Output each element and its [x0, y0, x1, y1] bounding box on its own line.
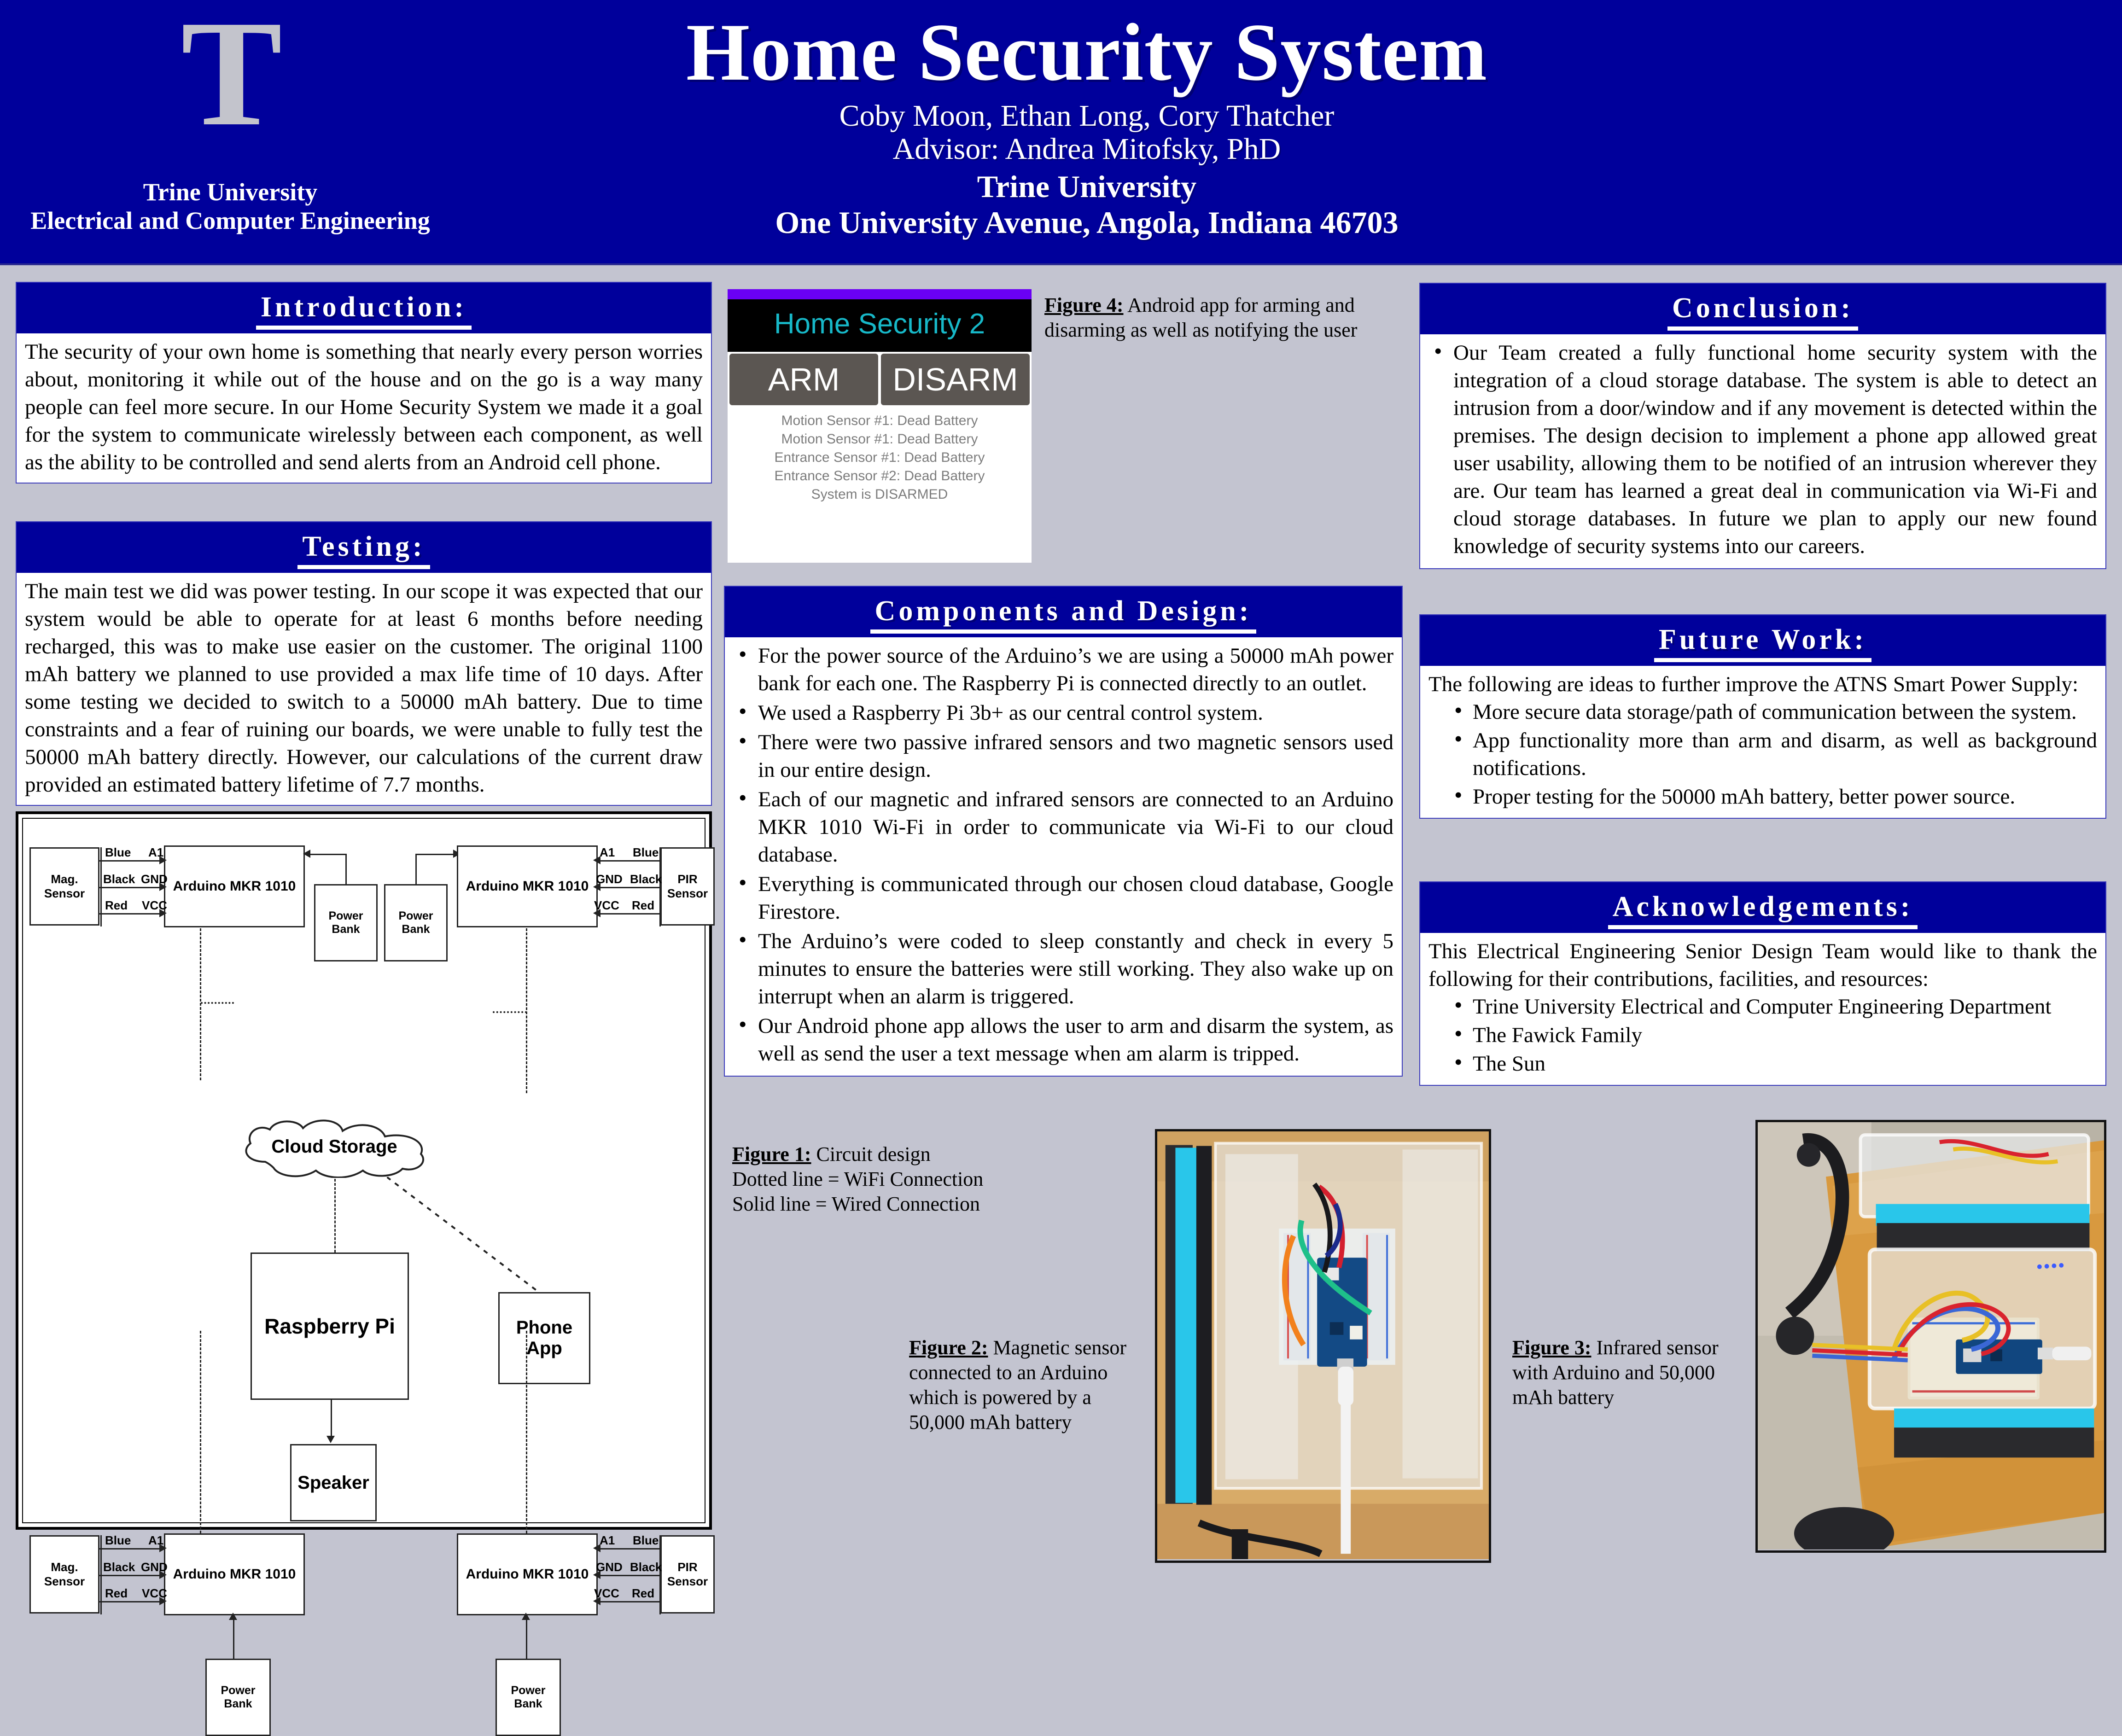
introduction-paragraph: The security of your own home is somethi…	[25, 338, 703, 476]
affiliation-university: Trine University	[497, 169, 1676, 204]
conclusion-heading-text: Conclusion:	[1667, 292, 1858, 331]
components-bullet-list: For the power source of the Arduino’s we…	[733, 642, 1393, 1067]
conclusion-heading: Conclusion:	[1420, 284, 2105, 334]
wire-label-blue-br: Blue	[633, 1533, 659, 1548]
list-item: More secure data storage/path of communi…	[1450, 698, 2097, 726]
cloud-label: Cloud Storage	[233, 1136, 436, 1157]
status-line: Motion Sensor #1: Dead Battery	[728, 412, 1032, 430]
node-label: PIR Sensor	[662, 872, 713, 901]
wire-label-blue-bl: Blue	[105, 1533, 131, 1548]
node-label: Arduino MKR 1010	[466, 1567, 589, 1582]
figure-1-text: Circuit design	[811, 1143, 931, 1165]
list-item: The Arduino’s were coded to sleep consta…	[733, 927, 1393, 1010]
components-heading: Components and Design:	[725, 587, 1402, 637]
logo-department-name: Electrical and Computer Engineering	[28, 206, 433, 235]
author-list: Coby Moon, Ethan Long, Cory Thatcher	[497, 99, 1676, 133]
section-testing: Testing: The main test we did was power …	[16, 521, 712, 806]
node-label: PIR Sensor	[662, 1560, 713, 1589]
figure-1-label: Figure 1:	[732, 1143, 811, 1165]
advisor-line: Advisor: Andrea Mitofsky, PhD	[497, 133, 1676, 166]
wire-label-black-tl: Black	[103, 872, 135, 886]
diagram-node-arduino-bottom-left: Arduino MKR 1010	[164, 1533, 305, 1615]
list-item: Everything is communicated through our c…	[733, 870, 1393, 926]
node-label: Mag. Sensor	[31, 872, 98, 901]
figure-3-caption: Figure 3: Infrared sensor with Arduino a…	[1512, 1335, 1743, 1410]
cloud-to-phone-link	[387, 1177, 539, 1292]
diagram-node-phone-app: Phone App	[498, 1292, 590, 1384]
pin-label-gnd-bl: GND	[141, 1560, 168, 1574]
testing-heading-text: Testing:	[297, 531, 430, 569]
conclusion-body: Our Team created a fully functional home…	[1420, 334, 2105, 568]
page-title: Home Security System	[497, 8, 1676, 96]
wire-label-red-br: Red	[632, 1586, 654, 1601]
diagram-node-arduino-bottom-right: Arduino MKR 1010	[457, 1533, 598, 1615]
trine-t-logo-icon: T	[28, 5, 433, 161]
conclusion-bullet-list: Our Team created a fully functional home…	[1428, 339, 2097, 560]
pin-label-vcc-tl: VCC	[142, 898, 167, 913]
components-heading-text: Components and Design:	[870, 595, 1257, 634]
pin-label-a1-bl: A1	[148, 1533, 163, 1548]
section-acknowledgements: Acknowledgements: This Electrical Engine…	[1419, 881, 2106, 1086]
node-label: Raspberry Pi	[264, 1314, 395, 1339]
node-label: Arduino MKR 1010	[173, 1567, 296, 1582]
pin-label-a1-tr: A1	[600, 845, 615, 860]
affiliation-address: One University Avenue, Angola, Indiana 4…	[497, 204, 1676, 240]
list-item: Our Team created a fully functional home…	[1428, 339, 2097, 560]
list-item: The Sun	[1450, 1050, 2097, 1078]
node-label: Arduino MKR 1010	[173, 879, 296, 894]
diagram-node-power-bank-4: Power Bank	[496, 1659, 561, 1736]
list-item: The Fawick Family	[1450, 1021, 2097, 1049]
poster-title-block: Home Security System Coby Moon, Ethan Lo…	[497, 8, 1676, 240]
pin-label-gnd-tl: GND	[141, 872, 168, 886]
section-future-work: Future Work: The following are ideas to …	[1419, 614, 2106, 819]
diagram-node-cloud-storage: Cloud Storage	[233, 1118, 436, 1178]
testing-heading: Testing:	[17, 522, 711, 573]
list-item: Each of our magnetic and infrared sensor…	[733, 786, 1393, 868]
app-status-bar	[728, 289, 1032, 299]
node-label: Speaker	[297, 1473, 369, 1493]
pin-label-vcc-bl: VCC	[142, 1586, 167, 1601]
introduction-heading-text: Introduction:	[256, 291, 472, 330]
wire-label-black-tr: Black	[630, 872, 662, 886]
diagram-node-speaker: Speaker	[290, 1444, 377, 1521]
diagram-node-power-bank-1: Power Bank	[314, 884, 378, 961]
acknowledgements-intro: This Electrical Engineering Senior Desig…	[1428, 938, 2097, 993]
list-item: Our Android phone app allows the user to…	[733, 1012, 1393, 1067]
list-item: Trine University Electrical and Computer…	[1450, 993, 2097, 1020]
figure-1-circuit-diagram: Mag. Sensor Arduino MKR 1010 Blue A1 Bla…	[16, 811, 712, 1530]
figure-1-legend-solid: Solid line = Wired Connection	[732, 1192, 1137, 1217]
list-item: We used a Raspberry Pi 3b+ as our centra…	[733, 699, 1393, 727]
app-button-row: ARM DISARM	[728, 352, 1032, 405]
list-item: There were two passive infrared sensors …	[733, 728, 1393, 784]
figure-4-android-app-screenshot: Home Security 2 ARM DISARM Motion Sensor…	[728, 289, 1032, 563]
pin-label-gnd-br: GND	[596, 1560, 623, 1574]
university-logo-block: T Trine University Electrical and Comput…	[28, 5, 433, 235]
app-title-bar: Home Security 2	[728, 299, 1032, 352]
diagram-node-power-bank-3: Power Bank	[205, 1659, 271, 1736]
diagram-node-arduino-top-left: Arduino MKR 1010	[164, 845, 305, 927]
figure-2-caption: Figure 2: Magnetic sensor connected to a…	[909, 1335, 1148, 1435]
status-line: Entrance Sensor #2: Dead Battery	[728, 467, 1032, 485]
introduction-body: The security of your own home is somethi…	[17, 333, 711, 483]
diagram-node-arduino-top-right: Arduino MKR 1010	[457, 845, 598, 927]
node-label: Arduino MKR 1010	[466, 879, 589, 894]
wire-label-blue-tr: Blue	[633, 845, 659, 860]
components-body: For the power source of the Arduino’s we…	[725, 637, 1402, 1076]
status-line: System is DISARMED	[728, 485, 1032, 504]
poster-header: T Trine University Electrical and Comput…	[0, 0, 2122, 265]
list-item: For the power source of the Arduino’s we…	[733, 642, 1393, 697]
wire-label-black-bl: Black	[103, 1560, 135, 1574]
status-line: Entrance Sensor #1: Dead Battery	[728, 449, 1032, 467]
disarm-button[interactable]: DISARM	[881, 354, 1030, 405]
pin-label-vcc-br: VCC	[594, 1586, 619, 1601]
diagram-node-pir-sensor-bottom-right: PIR Sensor	[660, 1535, 715, 1614]
wire-label-red-tr: Red	[632, 898, 654, 913]
figure-3-label: Figure 3:	[1512, 1336, 1591, 1359]
future-work-intro: The following are ideas to further impro…	[1428, 670, 2097, 698]
figure-3-photo-image	[1758, 1122, 2104, 1550]
node-label: Phone App	[500, 1317, 589, 1359]
figure-4-caption: Figure 4: Android app for arming and dis…	[1044, 293, 1385, 343]
acknowledgements-body: This Electrical Engineering Senior Desig…	[1420, 933, 2105, 1085]
figure-2-photo-image	[1157, 1131, 1489, 1559]
section-components-and-design: Components and Design: For the power sou…	[724, 586, 1403, 1077]
figure-2-photo	[1155, 1129, 1491, 1563]
testing-body: The main test we did was power testing. …	[17, 573, 711, 805]
figure-3-photo	[1755, 1120, 2106, 1553]
section-introduction: Introduction: The security of your own h…	[16, 282, 712, 484]
diagram-node-power-bank-2: Power Bank	[384, 884, 448, 961]
wire-label-blue-tl: Blue	[105, 845, 131, 860]
future-work-heading-text: Future Work:	[1654, 624, 1871, 662]
figure-1-legend-dotted: Dotted line = WiFi Connection	[732, 1167, 1137, 1192]
wire-label-red-tl: Red	[105, 898, 128, 913]
diagram-node-pir-sensor-top-right: PIR Sensor	[660, 847, 715, 926]
figure-1-caption: Figure 1: Circuit design Dotted line = W…	[732, 1142, 1137, 1217]
node-label: Power Bank	[207, 1684, 269, 1711]
figure-2-label: Figure 2:	[909, 1336, 988, 1359]
future-work-bullet-list: More secure data storage/path of communi…	[1450, 698, 2097, 810]
figure-4-label: Figure 4:	[1044, 294, 1124, 316]
acknowledgements-heading-text: Acknowledgements:	[1608, 891, 1918, 929]
wire-label-red-bl: Red	[105, 1586, 128, 1601]
wire-label-black-br: Black	[630, 1560, 662, 1574]
node-label: Mag. Sensor	[31, 1560, 98, 1589]
testing-paragraph: The main test we did was power testing. …	[25, 577, 703, 798]
node-label: Power Bank	[385, 909, 446, 936]
node-label: Power Bank	[497, 1684, 560, 1711]
diagram-node-mag-sensor-bottom-left: Mag. Sensor	[29, 1535, 99, 1614]
list-item: Proper testing for the 50000 mAh battery…	[1450, 783, 2097, 810]
future-work-body: The following are ideas to further impro…	[1420, 666, 2105, 818]
pin-label-a1-tl: A1	[148, 845, 163, 860]
status-line: Motion Sensor #1: Dead Battery	[728, 430, 1032, 449]
diagram-frame: Mag. Sensor Arduino MKR 1010 Blue A1 Bla…	[22, 818, 705, 1523]
pin-label-gnd-tr: GND	[596, 872, 623, 886]
introduction-heading: Introduction:	[17, 283, 711, 333]
acknowledgements-heading: Acknowledgements:	[1420, 882, 2105, 933]
pin-label-vcc-tr: VCC	[594, 898, 619, 913]
logo-university-name: Trine University	[28, 178, 433, 206]
diagram-node-mag-sensor-top-left: Mag. Sensor	[29, 847, 99, 926]
arm-button[interactable]: ARM	[729, 354, 878, 405]
section-conclusion: Conclusion: Our Team created a fully fun…	[1419, 283, 2106, 569]
node-label: Power Bank	[315, 909, 376, 936]
app-status-list: Motion Sensor #1: Dead Battery Motion Se…	[728, 405, 1032, 504]
diagram-node-raspberry-pi: Raspberry Pi	[251, 1252, 409, 1400]
list-item: App functionality more than arm and disa…	[1450, 727, 2097, 782]
pin-label-a1-br: A1	[600, 1533, 615, 1548]
acknowledgements-bullet-list: Trine University Electrical and Computer…	[1450, 993, 2097, 1078]
future-work-heading: Future Work:	[1420, 615, 2105, 666]
